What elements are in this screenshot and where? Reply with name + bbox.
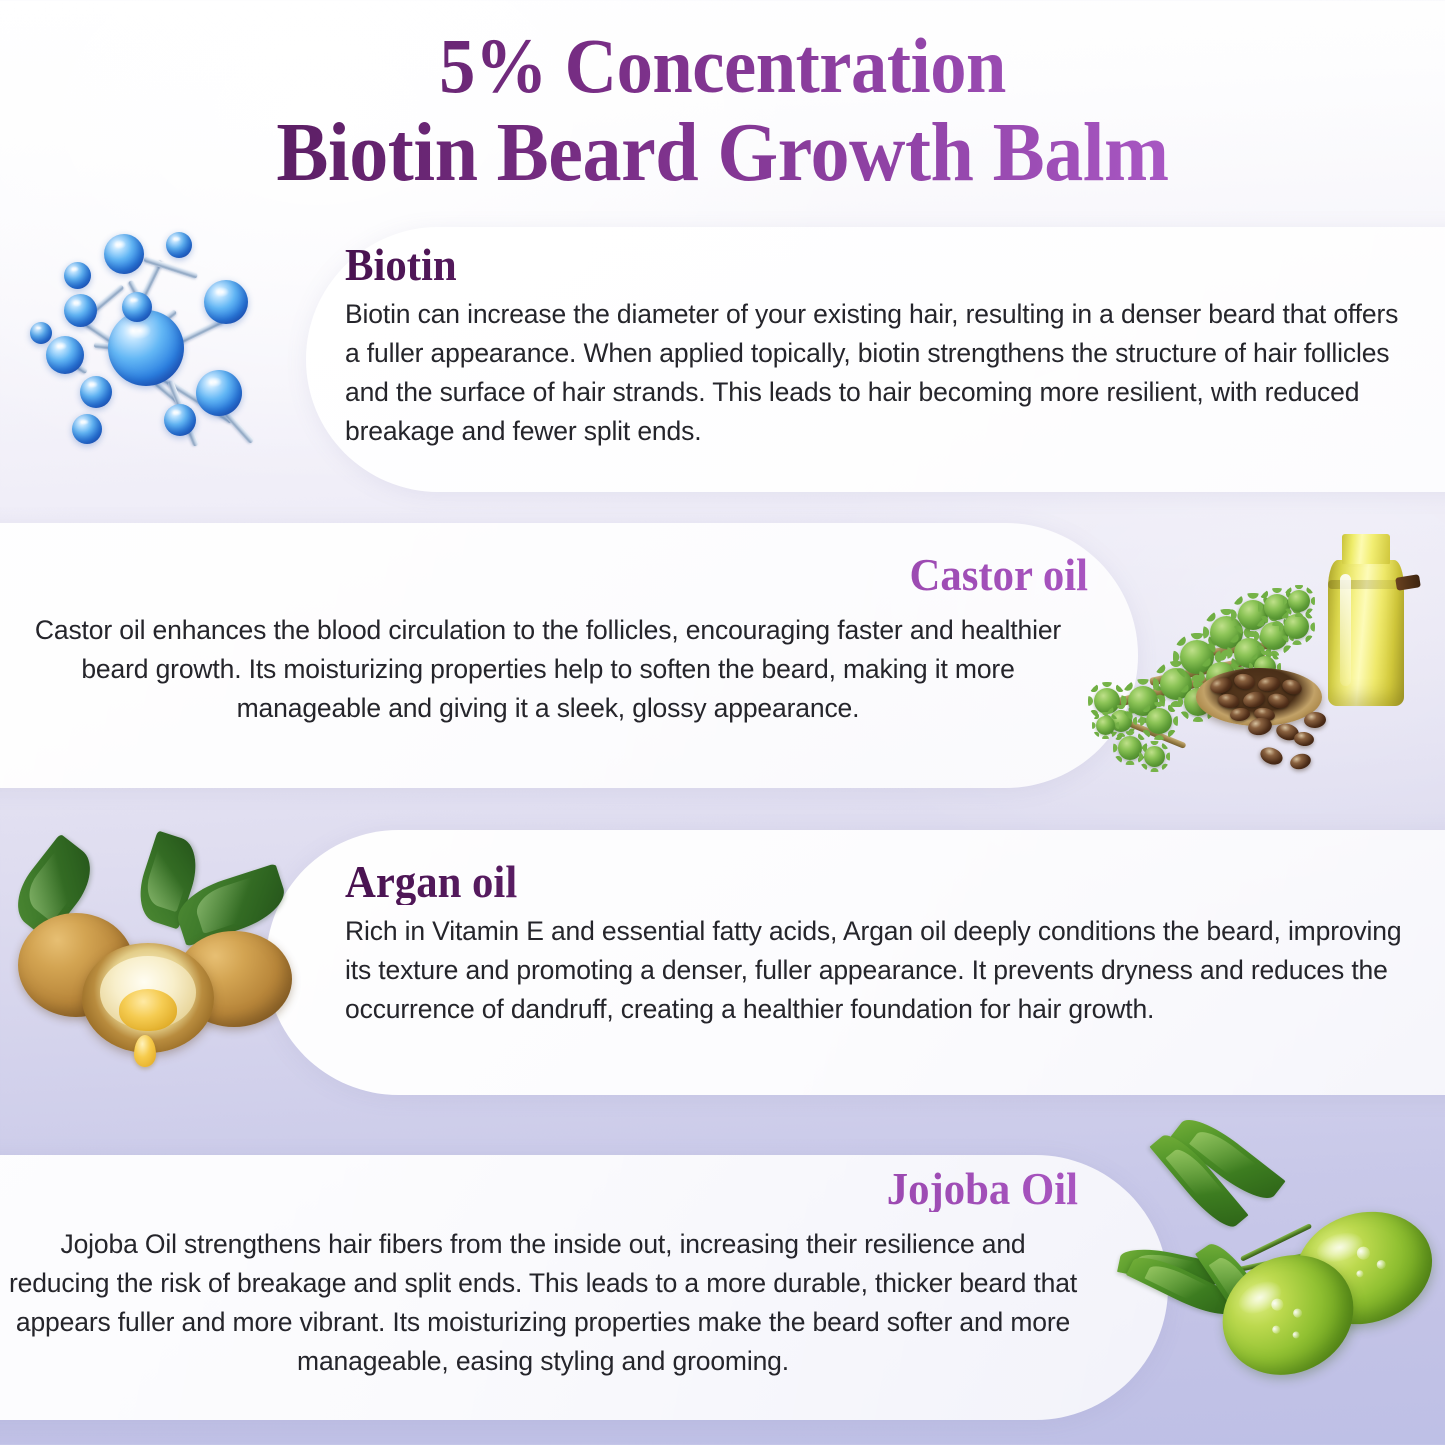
- title-line-1: 5% Concentration: [51, 26, 1395, 106]
- section-heading-jojoba: Jojoba Oil: [62, 1167, 1079, 1212]
- castor-oil-bottle-icon: [1326, 534, 1406, 706]
- section-text-biotin: Biotin Biotin can increase the diameter …: [345, 243, 1420, 451]
- section-body-castor: Castor oil enhances the blood circulatio…: [8, 611, 1088, 728]
- section-body-jojoba: Jojoba Oil strengthens hair fibers from …: [8, 1225, 1078, 1381]
- page-title: 5% Concentration Biotin Beard Growth Bal…: [0, 26, 1445, 197]
- section-heading-biotin: Biotin: [345, 243, 1366, 288]
- section-body-argan: Rich in Vitamin E and essential fatty ac…: [345, 912, 1415, 1029]
- section-text-castor: Castor oil Castor oil enhances the blood…: [8, 553, 1088, 728]
- biotin-molecule-icon: [18, 218, 298, 493]
- section-heading-castor: Castor oil: [62, 553, 1088, 598]
- title-line-2: Biotin Beard Growth Balm: [51, 110, 1395, 197]
- section-body-biotin: Biotin can increase the diameter of your…: [345, 295, 1420, 451]
- argan-oil-drop-icon: [134, 1035, 156, 1067]
- section-heading-argan: Argan oil: [345, 860, 1362, 905]
- jojoba-oil-image: [1145, 1135, 1445, 1445]
- castor-oil-image: [1088, 520, 1445, 810]
- argan-oil-image: [0, 845, 300, 1100]
- section-text-jojoba: Jojoba Oil Jojoba Oil strengthens hair f…: [8, 1167, 1078, 1381]
- section-text-argan: Argan oil Rich in Vitamin E and essentia…: [345, 860, 1415, 1029]
